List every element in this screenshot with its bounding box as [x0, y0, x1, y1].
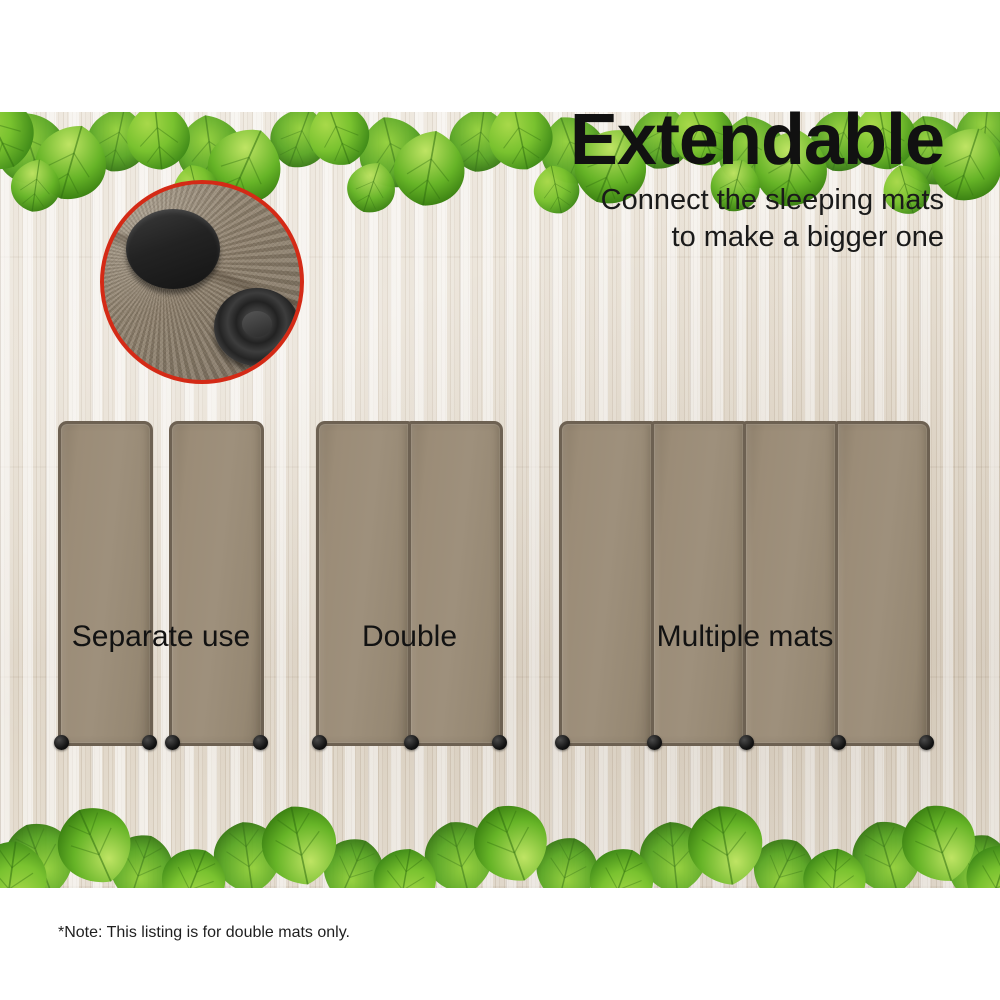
snap-dot: [555, 735, 570, 750]
snap-fastener-closeup: [100, 180, 304, 384]
snap-dot: [647, 735, 662, 750]
page-title: Extendable: [524, 104, 944, 176]
mat-panel: [835, 421, 930, 746]
config-double: Double: [316, 421, 503, 746]
mat-row-separate-use: [58, 421, 264, 746]
config-separate-use: Separate use: [58, 421, 264, 746]
subtitle: Connect the sleeping mats to make a bigg…: [524, 182, 944, 255]
headline-block: Extendable Connect the sleeping mats to …: [524, 104, 944, 255]
config-multiple-mats: Multiple mats: [559, 421, 930, 746]
snap-dot: [253, 735, 268, 750]
snap-dot: [831, 735, 846, 750]
snap-dot: [165, 735, 180, 750]
mat-row-multiple: [559, 421, 930, 746]
snap-dot: [312, 735, 327, 750]
snap-dot: [492, 735, 507, 750]
snap-dot: [142, 735, 157, 750]
snap-dot: [739, 735, 754, 750]
mat-panel: [559, 421, 654, 746]
mat-panel: [58, 421, 153, 746]
infographic-canvas: Separate use Double: [0, 0, 1000, 1000]
snap-dot: [919, 735, 934, 750]
snap-dot: [54, 735, 69, 750]
snap-dot: [404, 735, 419, 750]
mat-panel: [408, 421, 503, 746]
snap-socket-icon: [214, 288, 300, 366]
mat-row-double: [316, 421, 503, 746]
config-label-separate-use: Separate use: [38, 620, 284, 654]
mat-panel: [651, 421, 746, 746]
mat-panel: [169, 421, 264, 746]
config-label-multiple-mats: Multiple mats: [549, 620, 941, 654]
subtitle-line-2: to make a bigger one: [524, 219, 944, 256]
config-label-double: Double: [298, 620, 521, 654]
mat-panel: [743, 421, 838, 746]
subtitle-line-1: Connect the sleeping mats: [524, 182, 944, 219]
mat-panel: [316, 421, 411, 746]
disclaimer-note: *Note: This listing is for double mats o…: [58, 924, 350, 942]
snap-cap-icon: [126, 209, 220, 289]
